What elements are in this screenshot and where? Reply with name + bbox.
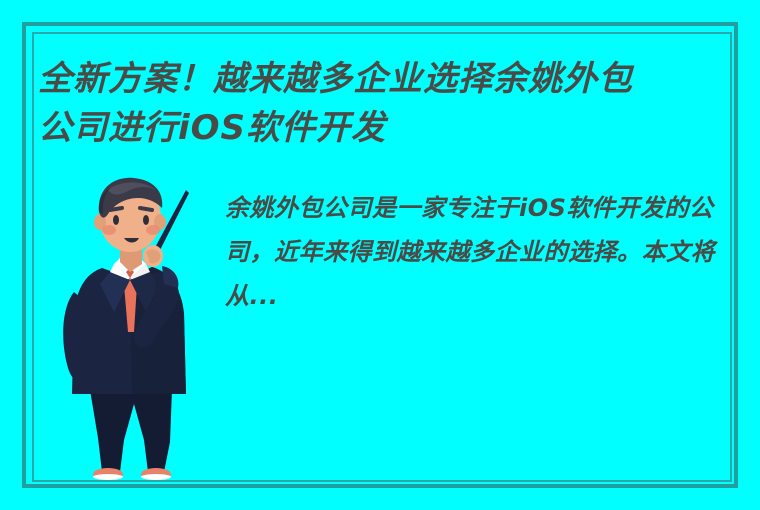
eye-left xyxy=(113,215,119,225)
businessman-illustration xyxy=(52,172,212,482)
cheek-left xyxy=(102,225,116,235)
page-title: 全新方案！越来越多企业选择余姚外包 公司进行iOS软件开发 xyxy=(38,55,738,153)
businessman-figure-svg xyxy=(52,172,212,482)
poster-canvas: 全新方案！越来越多企业选择余姚外包 公司进行iOS软件开发 余姚外包公司是一家专… xyxy=(0,0,760,510)
article-summary-text: 余姚外包公司是一家专注于iOS软件开发的公司，近年来得到越来越多企业的选择。本文… xyxy=(225,186,730,318)
cheek-right xyxy=(146,225,160,235)
eyebrow-left xyxy=(110,208,122,210)
eye-right xyxy=(143,215,149,225)
eyebrow-right xyxy=(140,208,152,210)
